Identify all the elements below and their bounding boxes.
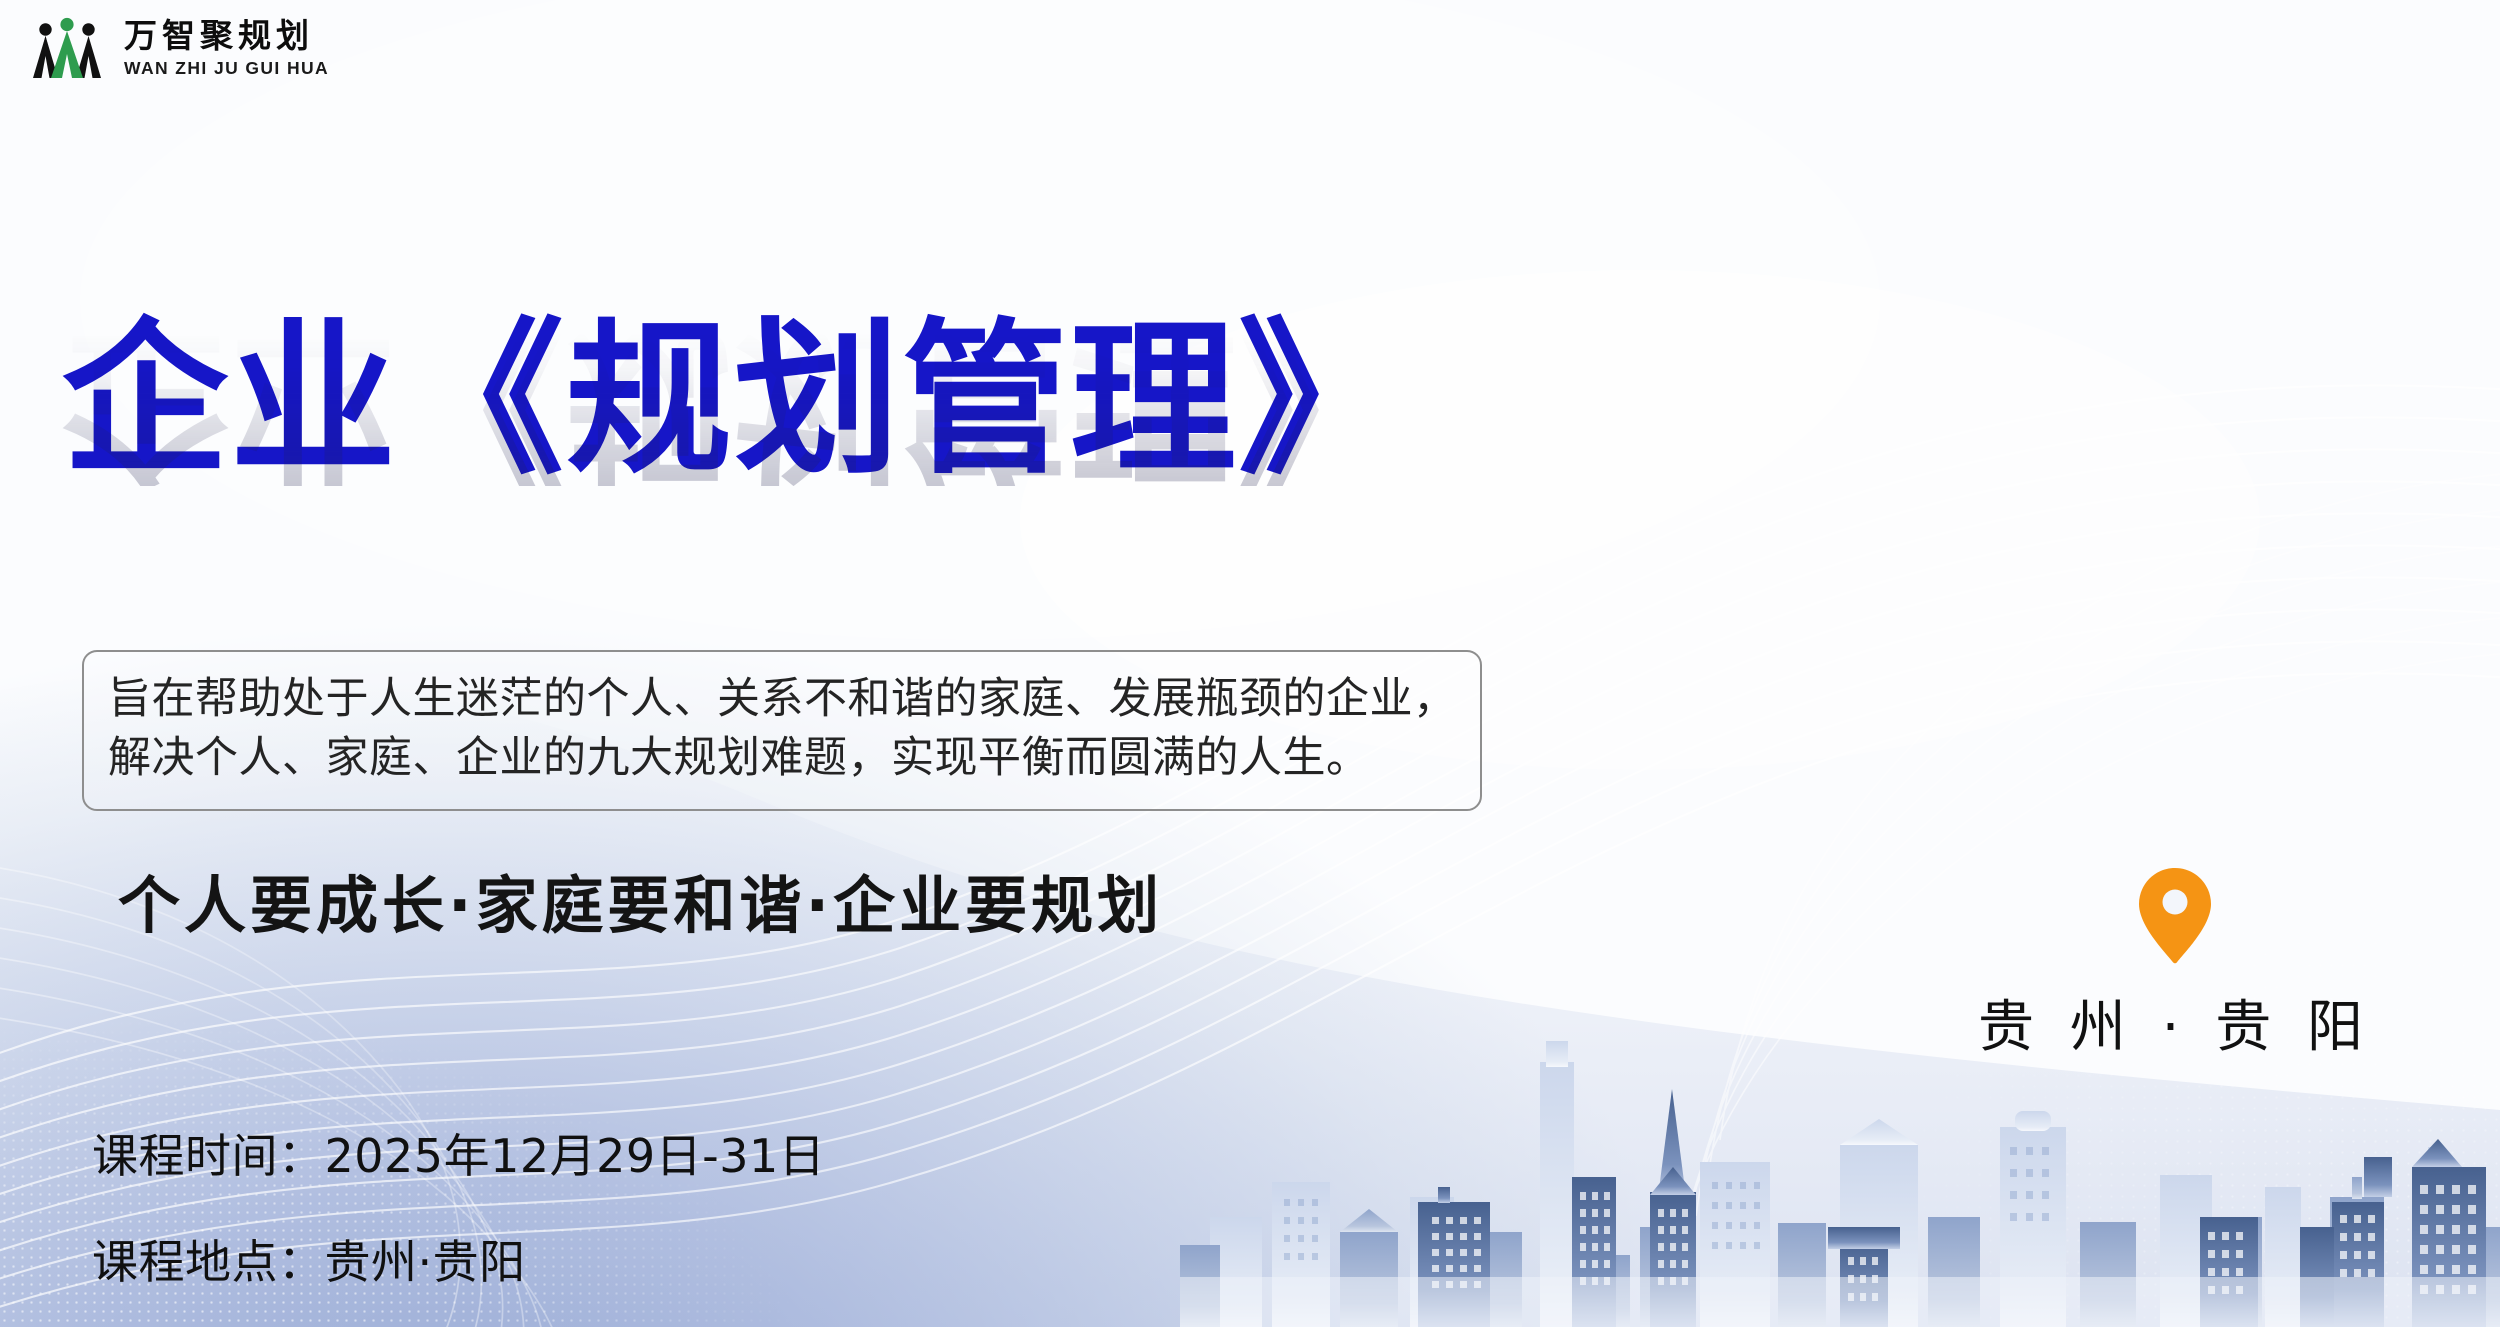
course-time-row: 课程时间：2025年12月29日-31日 <box>92 1120 825 1186</box>
three-people-logo-icon <box>28 14 106 82</box>
description-box: 旨在帮助处于人生迷茫的个人、关系不和谐的家庭、发展瓶颈的企业， 解决个人、家庭、… <box>82 650 1482 811</box>
map-pin-icon <box>2139 868 2211 964</box>
brand-name-cn: 万智聚规划 <box>124 19 329 52</box>
promotional-banner: 万智聚规划 WAN ZHI JU GUI HUA 企业《规划管理》 企业《规划管… <box>0 0 2500 1327</box>
brand-text: 万智聚规划 WAN ZHI JU GUI HUA <box>124 19 329 78</box>
brand-logo[interactable]: 万智聚规划 WAN ZHI JU GUI HUA <box>28 14 329 82</box>
page-title-reflection: 企业《规划管理》 <box>62 320 1406 486</box>
description-line-2: 解决个人、家庭、企业的九大规划难题，实现平衡而圆满的人生。 <box>108 729 1458 788</box>
description-line-1: 旨在帮助处于人生迷茫的个人、关系不和谐的家庭、发展瓶颈的企业， <box>108 670 1458 729</box>
course-info: 课程时间：2025年12月29日-31日 课程地点：贵州·贵阳 <box>92 1120 825 1292</box>
location-label: 贵 州 · 贵 阳 <box>1965 982 2385 1063</box>
location-block: 贵 州 · 贵 阳 <box>1965 868 2385 1063</box>
slogan-text: 个人要成长·家庭要和谐·企业要规划 <box>118 855 1163 945</box>
hero-title-block: 企业《规划管理》 企业《规划管理》 <box>62 318 1406 652</box>
brand-name-pinyin: WAN ZHI JU GUI HUA <box>124 60 329 78</box>
course-place-row: 课程地点：贵州·贵阳 <box>92 1226 825 1292</box>
